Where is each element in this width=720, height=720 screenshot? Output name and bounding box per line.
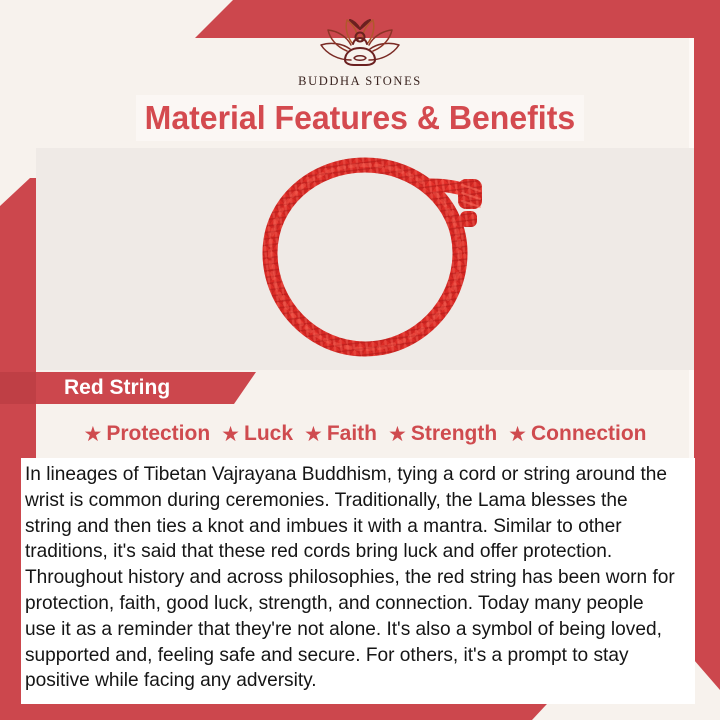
lotus-meditation-icon — [314, 14, 406, 72]
benefit-item-protection: ★ Protection — [84, 422, 211, 446]
star-icon: ★ — [508, 424, 527, 445]
benefit-label: Luck — [244, 422, 293, 446]
benefit-item-luck: ★ Luck — [221, 422, 293, 446]
description-text: In lineages of Tibetan Vajrayana Buddhis… — [25, 462, 677, 694]
benefit-label: Protection — [106, 422, 210, 446]
red-string-bracelet-image — [234, 153, 496, 365]
star-icon: ★ — [221, 424, 240, 445]
title-band: Material Features & Benefits — [136, 95, 584, 141]
bracelet-knot — [458, 179, 482, 209]
benefit-item-strength: ★ Strength — [388, 422, 497, 446]
product-image-area — [36, 148, 694, 370]
material-ribbon: Red String — [36, 372, 256, 404]
brand-logo: BUDDHA STONES — [0, 14, 720, 89]
description-block: In lineages of Tibetan Vajrayana Buddhis… — [21, 458, 695, 704]
benefits-row: ★ Protection ★ Luck ★ Faith ★ Strength ★… — [36, 412, 694, 456]
page-title: Material Features & Benefits — [145, 99, 575, 137]
benefit-label: Strength — [411, 422, 497, 446]
brand-name: BUDDHA STONES — [298, 74, 422, 89]
star-icon: ★ — [84, 424, 103, 445]
benefit-label: Faith — [327, 422, 377, 446]
bracelet-secondary-knot — [460, 211, 477, 227]
benefit-item-connection: ★ Connection — [508, 422, 646, 446]
star-icon: ★ — [388, 424, 407, 445]
material-label: Red String — [36, 376, 170, 400]
header: BUDDHA STONES Material Features & Benefi… — [0, 0, 720, 150]
star-icon: ★ — [304, 424, 323, 445]
infographic-page: BUDDHA STONES Material Features & Benefi… — [0, 0, 720, 720]
benefit-item-faith: ★ Faith — [304, 422, 377, 446]
ribbon-left-cap — [0, 372, 36, 404]
benefit-label: Connection — [531, 422, 647, 446]
